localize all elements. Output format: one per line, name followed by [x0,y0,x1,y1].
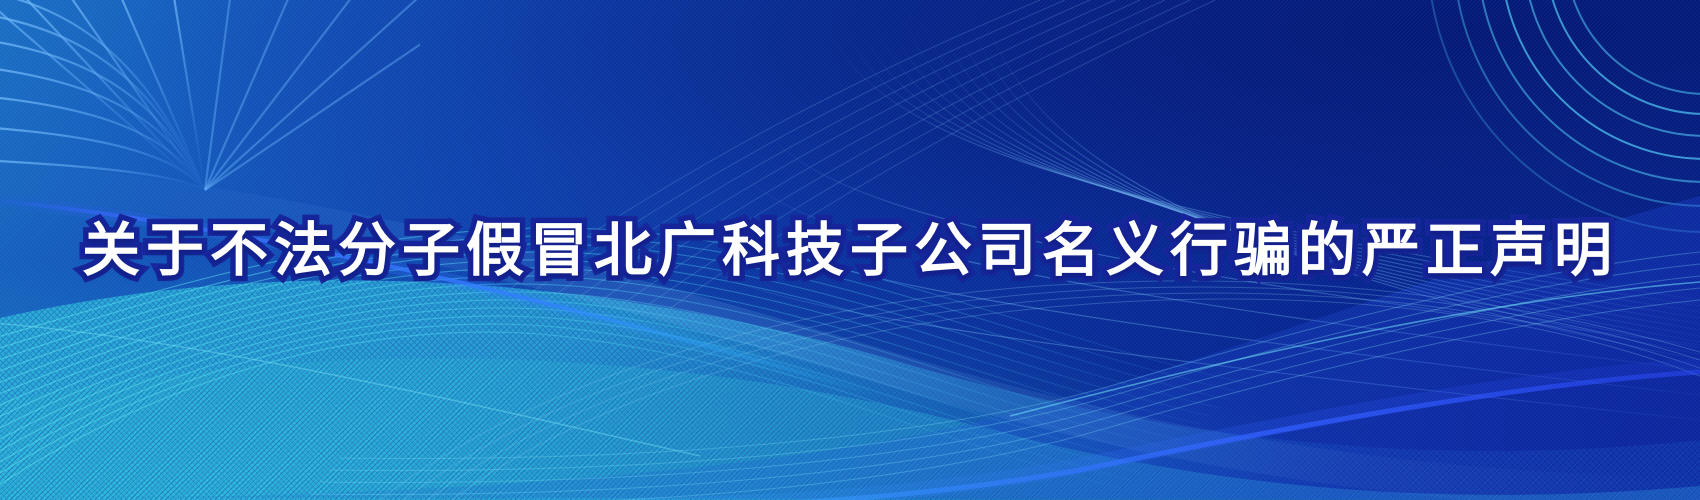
banner-title-container: 关于不法分子假冒北广科技子公司名义行骗的严正声明 [0,208,1700,294]
banner-title: 关于不法分子假冒北广科技子公司名义行骗的严正声明 [82,222,1618,280]
promo-banner: 关于不法分子假冒北广科技子公司名义行骗的严正声明 [0,0,1700,500]
